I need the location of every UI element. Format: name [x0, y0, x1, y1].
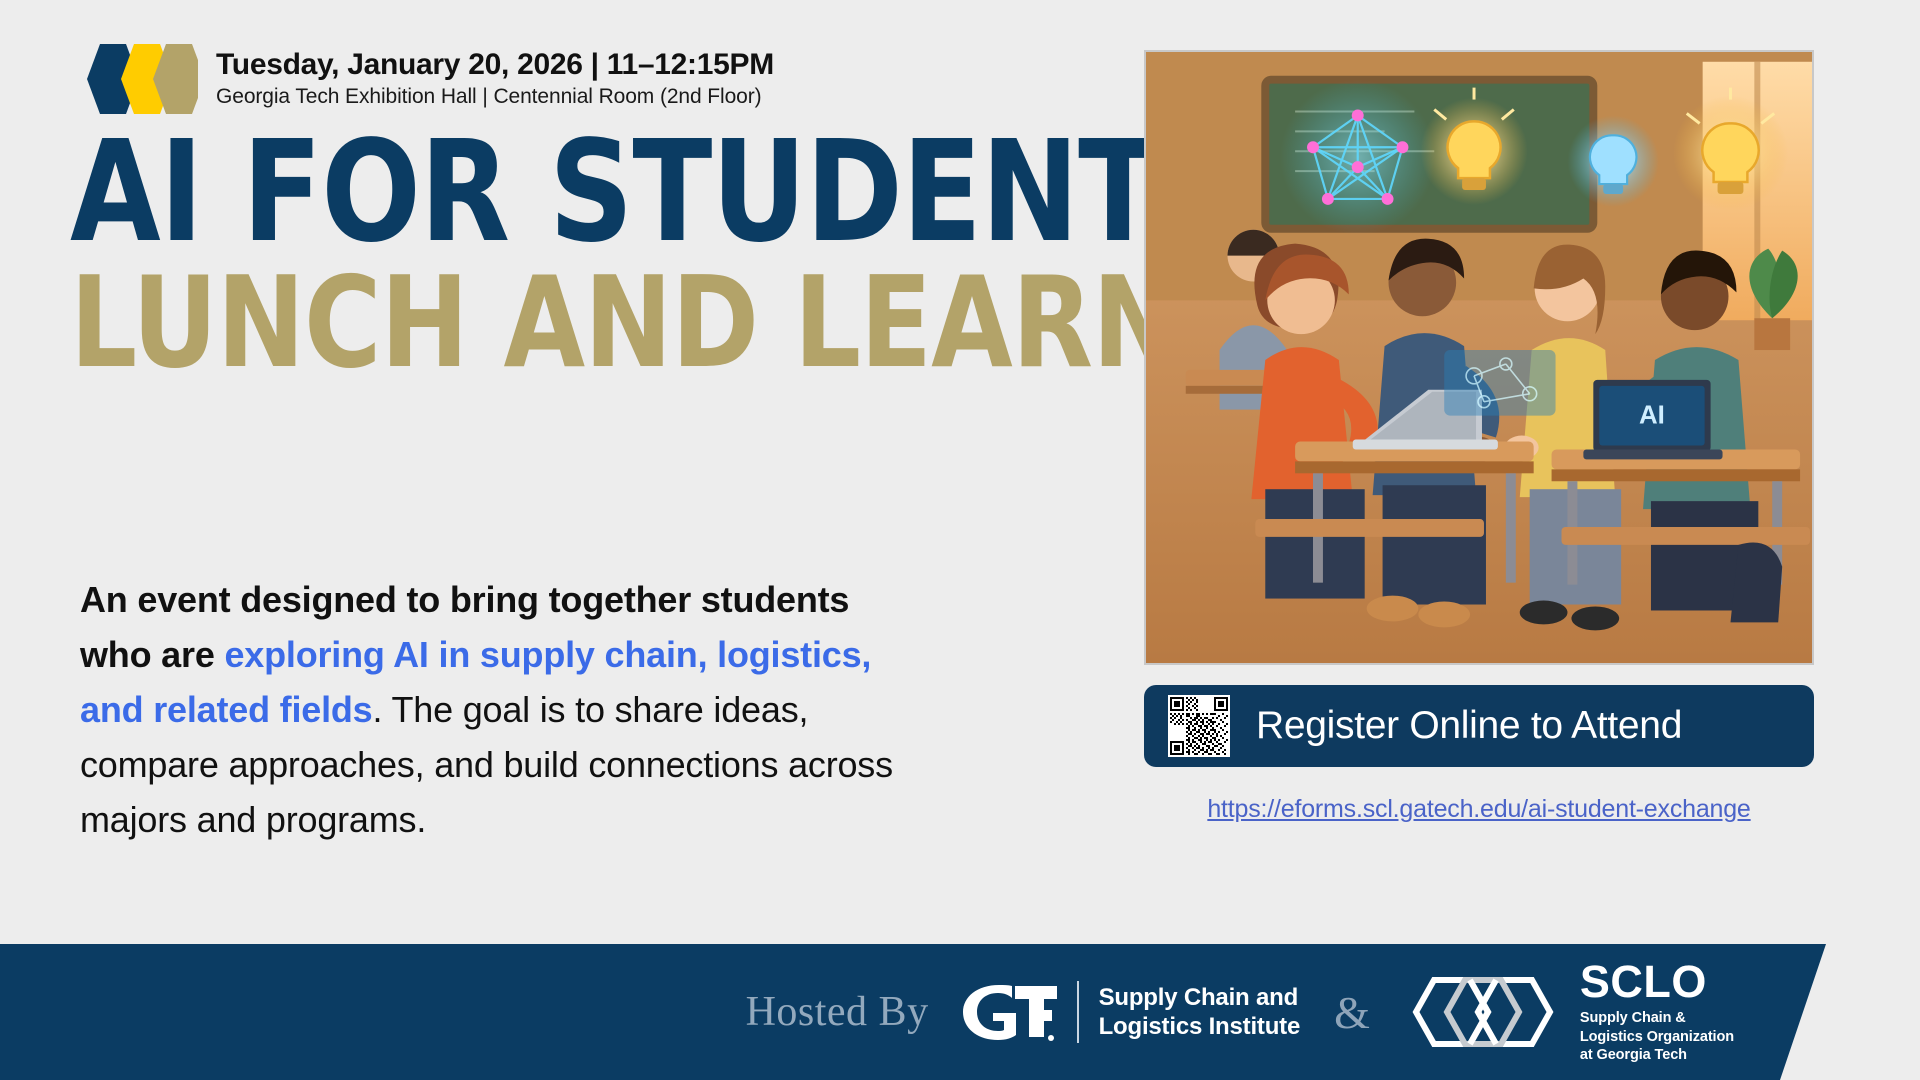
event-location: Georgia Tech Exhibition Hall | Centennia…	[216, 84, 774, 110]
footer-divider	[1077, 981, 1079, 1043]
three-hexagons-logo-icon	[78, 38, 198, 120]
gt-scl-lockup: Supply Chain and Logistics Institute	[955, 980, 1301, 1044]
georgia-tech-gt-logo-icon	[955, 980, 1057, 1044]
gt-institute-name-line1: Supply Chain and	[1099, 983, 1301, 1012]
sclo-acronym: SCLO	[1580, 959, 1734, 1004]
page-title: AI FOR STUDENTS LUNCH AND LEARN	[70, 128, 1329, 381]
sclo-lockup: SCLO Supply Chain & Logistics Organizati…	[1404, 959, 1734, 1065]
register-button[interactable]: Register Online to Attend	[1144, 685, 1814, 767]
title-line-2: LUNCH AND LEARN	[70, 264, 1241, 381]
header-bar: Tuesday, January 20, 2026 | 11–12:15PM G…	[78, 38, 774, 120]
ampersand-separator: &	[1334, 986, 1370, 1039]
title-line-1: AI FOR STUDENTS	[70, 128, 1241, 258]
header-text: Tuesday, January 20, 2026 | 11–12:15PM G…	[216, 48, 774, 111]
register-button-label: Register Online to Attend	[1256, 704, 1682, 748]
gt-institute-name: Supply Chain and Logistics Institute	[1099, 983, 1301, 1042]
event-description: An event designed to bring together stud…	[80, 572, 910, 847]
footer-bar: Hosted By Supply Chain and Logistics Ins…	[0, 944, 1920, 1080]
sclo-subtitle-line3: at Georgia Tech	[1580, 1046, 1734, 1065]
sclo-subtitle-line2: Logistics Organization	[1580, 1028, 1734, 1047]
sclo-text: SCLO Supply Chain & Logistics Organizati…	[1580, 959, 1734, 1065]
gt-institute-name-line2: Logistics Institute	[1099, 1012, 1301, 1041]
qr-code-icon[interactable]	[1168, 695, 1230, 757]
footer-content: Hosted By Supply Chain and Logistics Ins…	[0, 944, 1790, 1080]
event-datetime: Tuesday, January 20, 2026 | 11–12:15PM	[216, 48, 774, 82]
sclo-interlocking-hexagons-logo-icon	[1404, 974, 1562, 1050]
classroom-ai-illustration: AI	[1144, 50, 1814, 665]
hosted-by-label: Hosted By	[746, 988, 929, 1036]
svg-text:AI: AI	[1639, 402, 1665, 430]
sclo-subtitle-line1: Supply Chain &	[1580, 1009, 1734, 1028]
footer-corner-notch	[1780, 944, 1920, 1080]
register-url-link[interactable]: https://eforms.scl.gatech.edu/ai-student…	[1144, 795, 1814, 824]
sclo-subtitle: Supply Chain & Logistics Organization at…	[1580, 1009, 1734, 1065]
